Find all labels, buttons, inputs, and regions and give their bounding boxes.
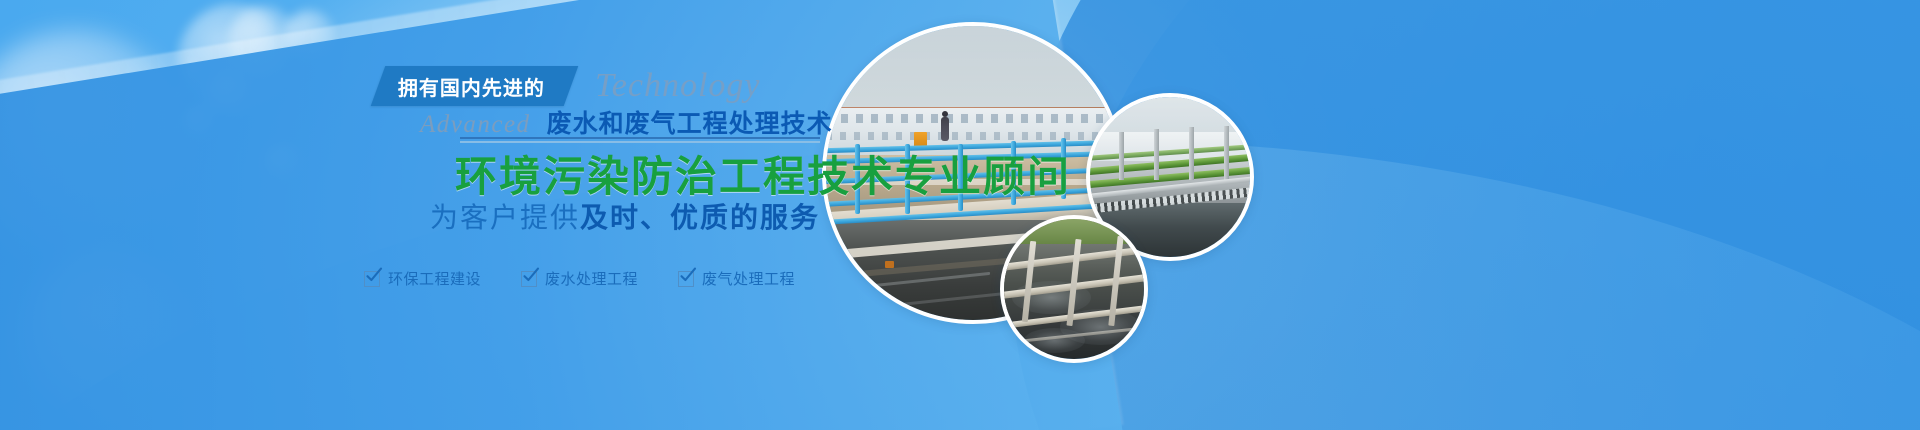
feature-label: 废水处理工程 [545, 268, 638, 289]
feature-label: 废气处理工程 [702, 268, 795, 289]
promo-banner: 拥有国内先进的 Technology Advanced 废水和废气工程处理技术 … [0, 0, 1920, 430]
list-item[interactable]: 废气处理工程 [678, 268, 795, 289]
page-title: 环境污染防治工程技术专业顾问 [455, 143, 1071, 204]
check-icon [521, 271, 537, 287]
technology-script: Technology [595, 69, 761, 103]
list-item[interactable]: 废水处理工程 [521, 268, 638, 289]
service-prefix: 为客户提供 [430, 202, 580, 233]
service-line: 为客户提供及时、优质的服务 [360, 196, 820, 236]
clarifier-bridge-photo [1000, 215, 1148, 363]
feature-label: 环保工程建设 [388, 268, 481, 289]
check-icon [364, 271, 380, 287]
subtitle-label: 废水和废气工程处理技术 [547, 104, 833, 140]
tagline-row: 拥有国内先进的 Technology [378, 66, 761, 106]
service-highlight: 及时、优质的服务 [580, 202, 820, 233]
feature-list: 环保工程建设 废水处理工程 废气处理工程 [364, 268, 795, 289]
tagline-label: 拥有国内先进的 [398, 72, 545, 101]
tagline-chip: 拥有国内先进的 [371, 66, 579, 106]
advanced-script: Advanced [420, 111, 531, 139]
subtitle-row: Advanced 废水和废气工程处理技术 [420, 104, 833, 140]
check-icon [678, 271, 694, 287]
divider-line-primary [460, 137, 820, 139]
list-item[interactable]: 环保工程建设 [364, 268, 481, 289]
banner-copy: 拥有国内先进的 Technology Advanced 废水和废气工程处理技术 … [0, 0, 830, 430]
